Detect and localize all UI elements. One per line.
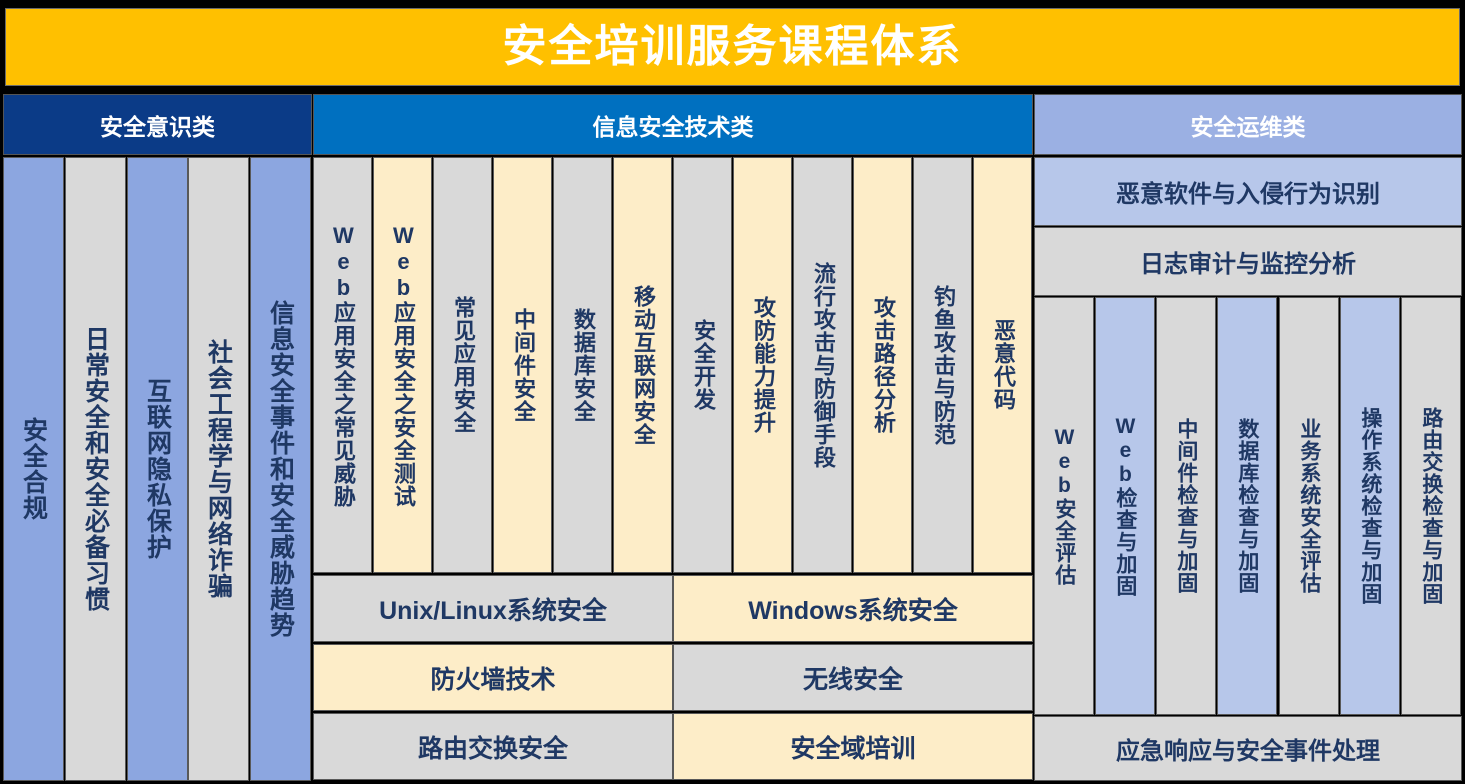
section-tech: Web应用安全之常见威胁Web应用安全之安全测试常见应用安全中间件安全数据库安全…: [313, 157, 1033, 781]
awareness-course-2[interactable]: 互联网隐私保护: [127, 157, 188, 781]
tech-course-6[interactable]: 安全开发: [673, 157, 732, 573]
ops-toprow-1[interactable]: 日志审计与监控分析: [1034, 227, 1462, 296]
tech-row-2-cell-1[interactable]: 安全域培训: [673, 713, 1033, 780]
ops-course-4[interactable]: 业务系统安全评估: [1279, 297, 1339, 715]
awareness-course-1[interactable]: 日常安全和安全必备习惯: [65, 157, 126, 781]
ops-bottom-row[interactable]: 应急响应与安全事件处理: [1034, 716, 1462, 781]
tech-row-1-cell-0[interactable]: 防火墙技术: [313, 644, 673, 711]
ops-toprow-0[interactable]: 恶意软件与入侵行为识别: [1034, 157, 1462, 226]
ops-course-1[interactable]: Web检查与加固: [1095, 297, 1155, 715]
ops-course-0[interactable]: Web安全评估: [1034, 297, 1094, 715]
category-header-tech-label: 信息安全技术类: [593, 108, 754, 142]
awareness-course-0[interactable]: 安全合规: [3, 157, 64, 781]
tech-course-11[interactable]: 恶意代码: [973, 157, 1032, 573]
category-header-awareness[interactable]: 安全意识类: [3, 94, 312, 155]
tech-row-0-cell-1[interactable]: Windows系统安全: [673, 575, 1033, 642]
tech-course-7[interactable]: 攻防能力提升: [733, 157, 792, 573]
tech-row-2-cell-0[interactable]: 路由交换安全: [313, 713, 673, 780]
tech-course-8[interactable]: 流行攻击与防御手段: [793, 157, 852, 573]
category-header-awareness-label: 安全意识类: [100, 108, 215, 142]
category-header-tech[interactable]: 信息安全技术类: [313, 94, 1033, 155]
ops-course-5[interactable]: 操作系统检查与加固: [1340, 297, 1400, 715]
tech-course-4[interactable]: 数据库安全: [553, 157, 612, 573]
tech-course-2[interactable]: 常见应用安全: [433, 157, 492, 573]
tech-course-0[interactable]: Web应用安全之常见威胁: [313, 157, 372, 573]
course-system-diagram: 安全培训服务课程体系 安全意识类 信息安全技术类 安全运维类 安全合规日常安全和…: [0, 0, 1465, 784]
section-ops: 恶意软件与入侵行为识别日志审计与监控分析Web安全评估Web检查与加固中间件检查…: [1034, 157, 1462, 781]
ops-course-2[interactable]: 中间件检查与加固: [1156, 297, 1216, 715]
awareness-course-4[interactable]: 信息安全事件和安全威胁趋势: [250, 157, 311, 781]
category-header-ops[interactable]: 安全运维类: [1034, 94, 1462, 155]
awareness-course-3[interactable]: 社会工程学与网络诈骗: [188, 157, 249, 781]
section-awareness: 安全合规日常安全和安全必备习惯互联网隐私保护社会工程学与网络诈骗信息安全事件和安…: [3, 157, 312, 781]
ops-course-6[interactable]: 路由交换检查与加固: [1401, 297, 1461, 715]
tech-row-1-cell-1[interactable]: 无线安全: [673, 644, 1033, 711]
page-title: 安全培训服务课程体系: [503, 25, 963, 69]
tech-course-10[interactable]: 钓鱼攻击与防范: [913, 157, 972, 573]
tech-course-5[interactable]: 移动互联网安全: [613, 157, 672, 573]
category-header-ops-label: 安全运维类: [1191, 108, 1306, 142]
page-title-bar: 安全培训服务课程体系: [5, 8, 1460, 86]
tech-course-1[interactable]: Web应用安全之安全测试: [373, 157, 432, 573]
tech-row-0-cell-0[interactable]: Unix/Linux系统安全: [313, 575, 673, 642]
ops-course-3[interactable]: 数据库检查与加固: [1217, 297, 1277, 715]
tech-course-3[interactable]: 中间件安全: [493, 157, 552, 573]
tech-course-9[interactable]: 攻击路径分析: [853, 157, 912, 573]
